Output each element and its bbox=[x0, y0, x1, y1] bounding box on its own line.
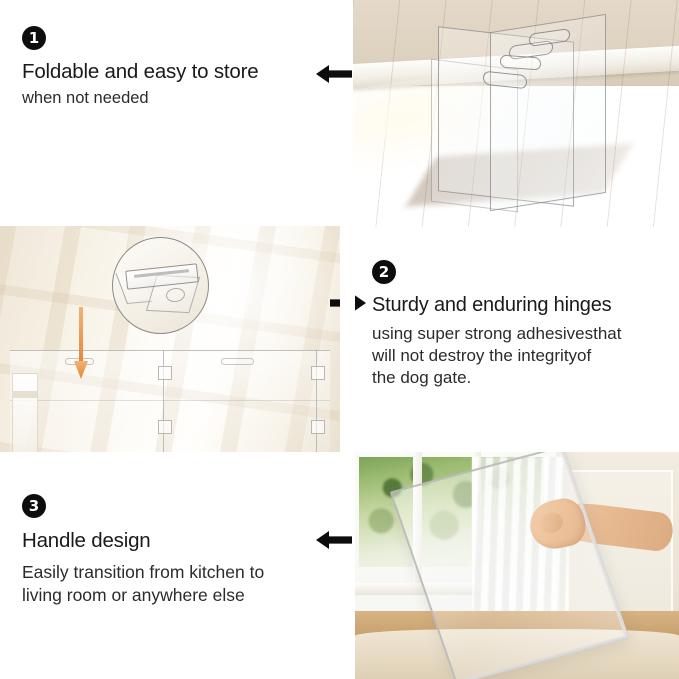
gutter bbox=[0, 452, 355, 454]
step-badge-1: 1 bbox=[22, 26, 46, 50]
arrow-left-icon-1 bbox=[316, 64, 352, 84]
feature-2-subtext-line: will not destroy the integrityof bbox=[372, 345, 672, 367]
feature-3-subtext-line: Easily transition from kitchen to bbox=[22, 561, 322, 584]
photo-hand-carrying-panel bbox=[355, 452, 679, 679]
feature-3-heading: Handle design bbox=[22, 529, 322, 553]
feature-3-subtext-line: living room or anywhere else bbox=[22, 584, 322, 607]
gutter bbox=[340, 226, 355, 452]
infographic-sheet: 1 Foldable and easy to store when not ne… bbox=[0, 0, 679, 679]
photo-hinge-closeup-callout bbox=[0, 226, 340, 452]
feature-2-subtext: using super strong adhesivesthat will no… bbox=[372, 323, 672, 389]
feature-panel-3-text: 3 Handle design Easily transition from k… bbox=[22, 494, 322, 607]
arrow-left-icon-3 bbox=[316, 530, 352, 550]
feature-3-subtext: Easily transition from kitchen to living… bbox=[22, 561, 322, 607]
step-badge-2: 2 bbox=[372, 260, 396, 284]
feature-2-heading: Sturdy and enduring hinges bbox=[372, 294, 672, 317]
feature-2-subtext-line: using super strong adhesivesthat bbox=[372, 323, 672, 345]
feature-1-heading: Foldable and easy to store bbox=[22, 60, 322, 84]
feature-1-subtext: when not needed bbox=[22, 89, 322, 109]
magnifier-circle-callout bbox=[112, 237, 209, 334]
step-badge-3: 3 bbox=[22, 494, 46, 518]
gate-handle-slot bbox=[500, 54, 541, 70]
feature-panel-1-text: 1 Foldable and easy to store when not ne… bbox=[22, 26, 322, 108]
feature-2-subtext-line: the dog gate. bbox=[372, 367, 672, 389]
orange-down-arrow-icon bbox=[73, 307, 89, 385]
photo-folded-gate-on-wood-floor bbox=[353, 0, 679, 227]
feature-panel-2-text: 2 Sturdy and enduring hinges using super… bbox=[372, 260, 672, 389]
